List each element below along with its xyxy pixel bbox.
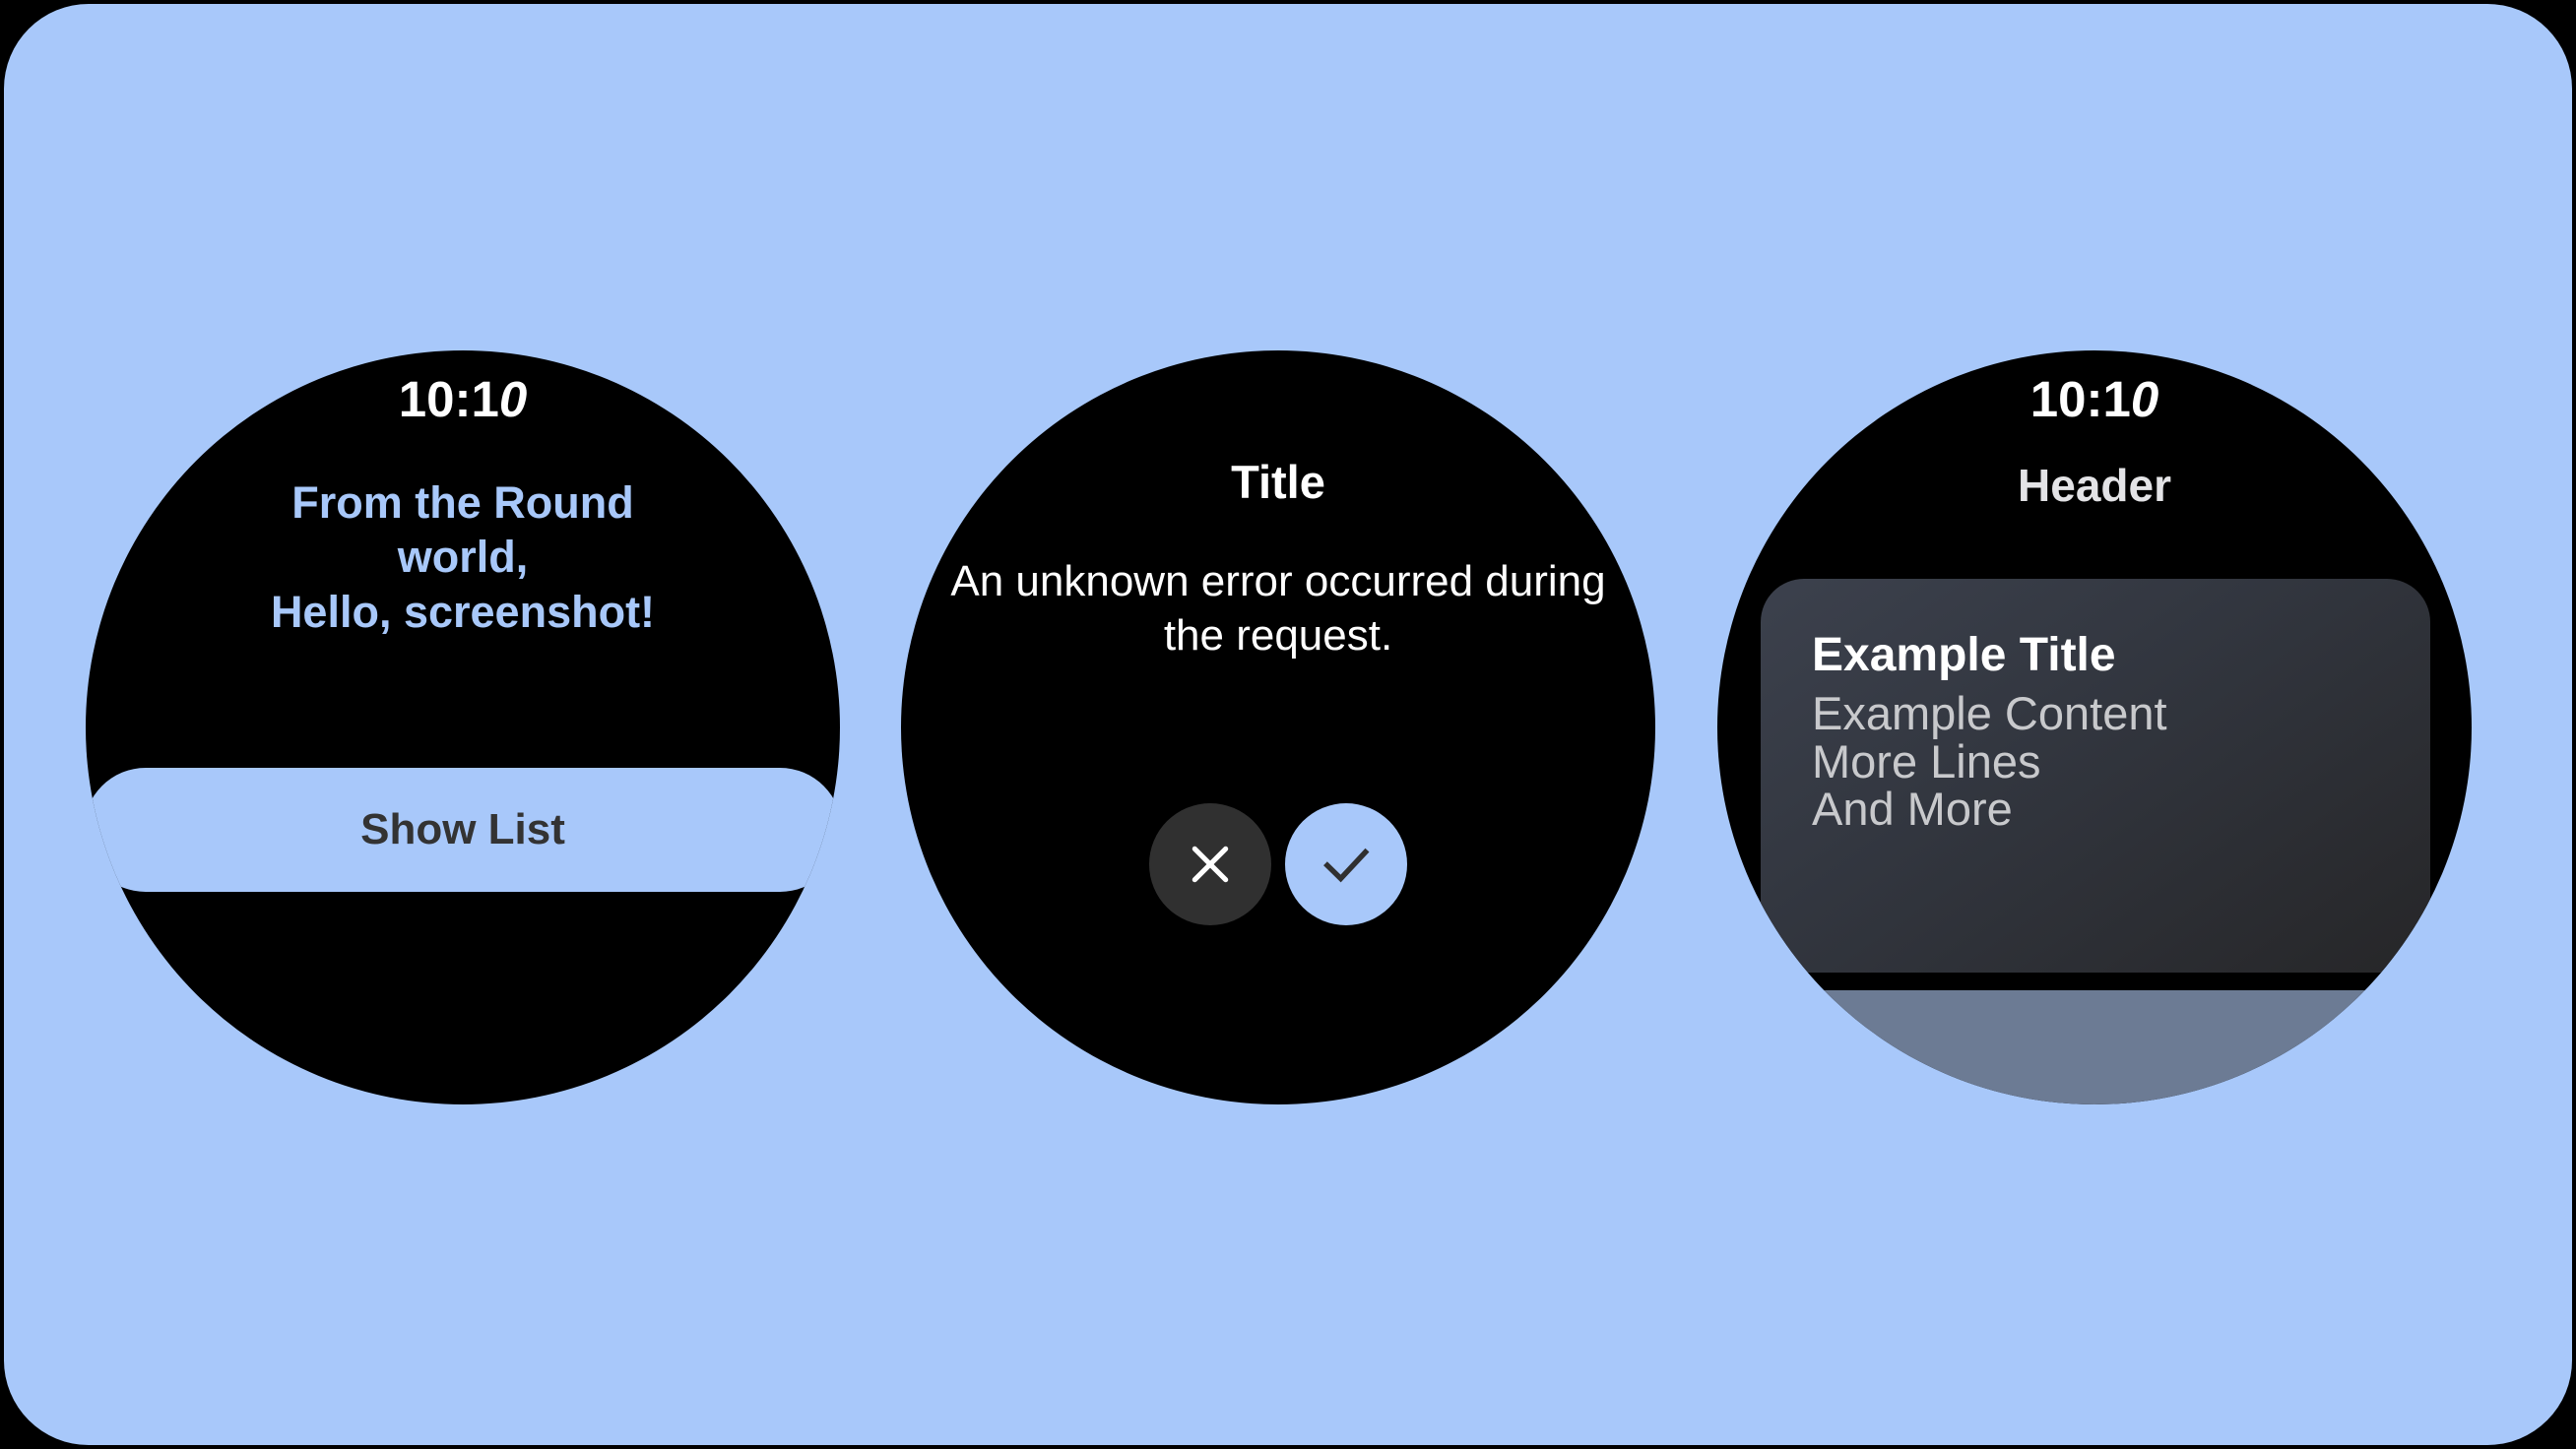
status-time: 10:10 bbox=[86, 374, 840, 424]
dismiss-button[interactable] bbox=[1149, 803, 1271, 925]
preview-surface: 10:10 From the Round world, Hello, scree… bbox=[4, 4, 2572, 1445]
greeting-text: From the Round world, Hello, screenshot! bbox=[127, 475, 799, 639]
alert-dialog-watch: Title An unknown error occurred during t… bbox=[901, 350, 1655, 1104]
show-list-button[interactable]: Show List bbox=[86, 768, 840, 892]
status-time-slant: 0 bbox=[2131, 371, 2158, 427]
greeting-line-2: world, bbox=[127, 530, 799, 584]
card-footer-band bbox=[1717, 990, 2472, 1104]
card-line-3: And More bbox=[1812, 786, 2430, 834]
list-card[interactable]: Example Title Example Content More Lines… bbox=[1761, 579, 2430, 973]
check-icon bbox=[1316, 834, 1377, 895]
status-time: 10:10 bbox=[1717, 374, 2472, 424]
card-title: Example Title bbox=[1812, 628, 2430, 684]
card-divider bbox=[1717, 973, 2472, 990]
alert-actions bbox=[901, 803, 1655, 925]
confirm-button[interactable] bbox=[1285, 803, 1407, 925]
card-line-1: Example Content bbox=[1812, 690, 2430, 738]
show-list-button-label: Show List bbox=[360, 805, 565, 854]
status-time-prefix: 10:1 bbox=[399, 371, 499, 427]
close-icon bbox=[1182, 836, 1239, 893]
greeting-line-3: Hello, screenshot! bbox=[127, 585, 799, 639]
status-time-slant: 0 bbox=[499, 371, 527, 427]
status-time-prefix: 10:1 bbox=[2030, 371, 2131, 427]
greeting-watch: 10:10 From the Round world, Hello, scree… bbox=[86, 350, 840, 1104]
card-line-2: More Lines bbox=[1812, 738, 2430, 787]
list-header: Header bbox=[1717, 461, 2472, 511]
list-card-watch: 10:10 Header Example Title Example Conte… bbox=[1717, 350, 2472, 1104]
greeting-line-1: From the Round bbox=[127, 475, 799, 530]
alert-body-text: An unknown error occurred during the req… bbox=[923, 554, 1634, 663]
alert-title: Title bbox=[940, 457, 1616, 508]
